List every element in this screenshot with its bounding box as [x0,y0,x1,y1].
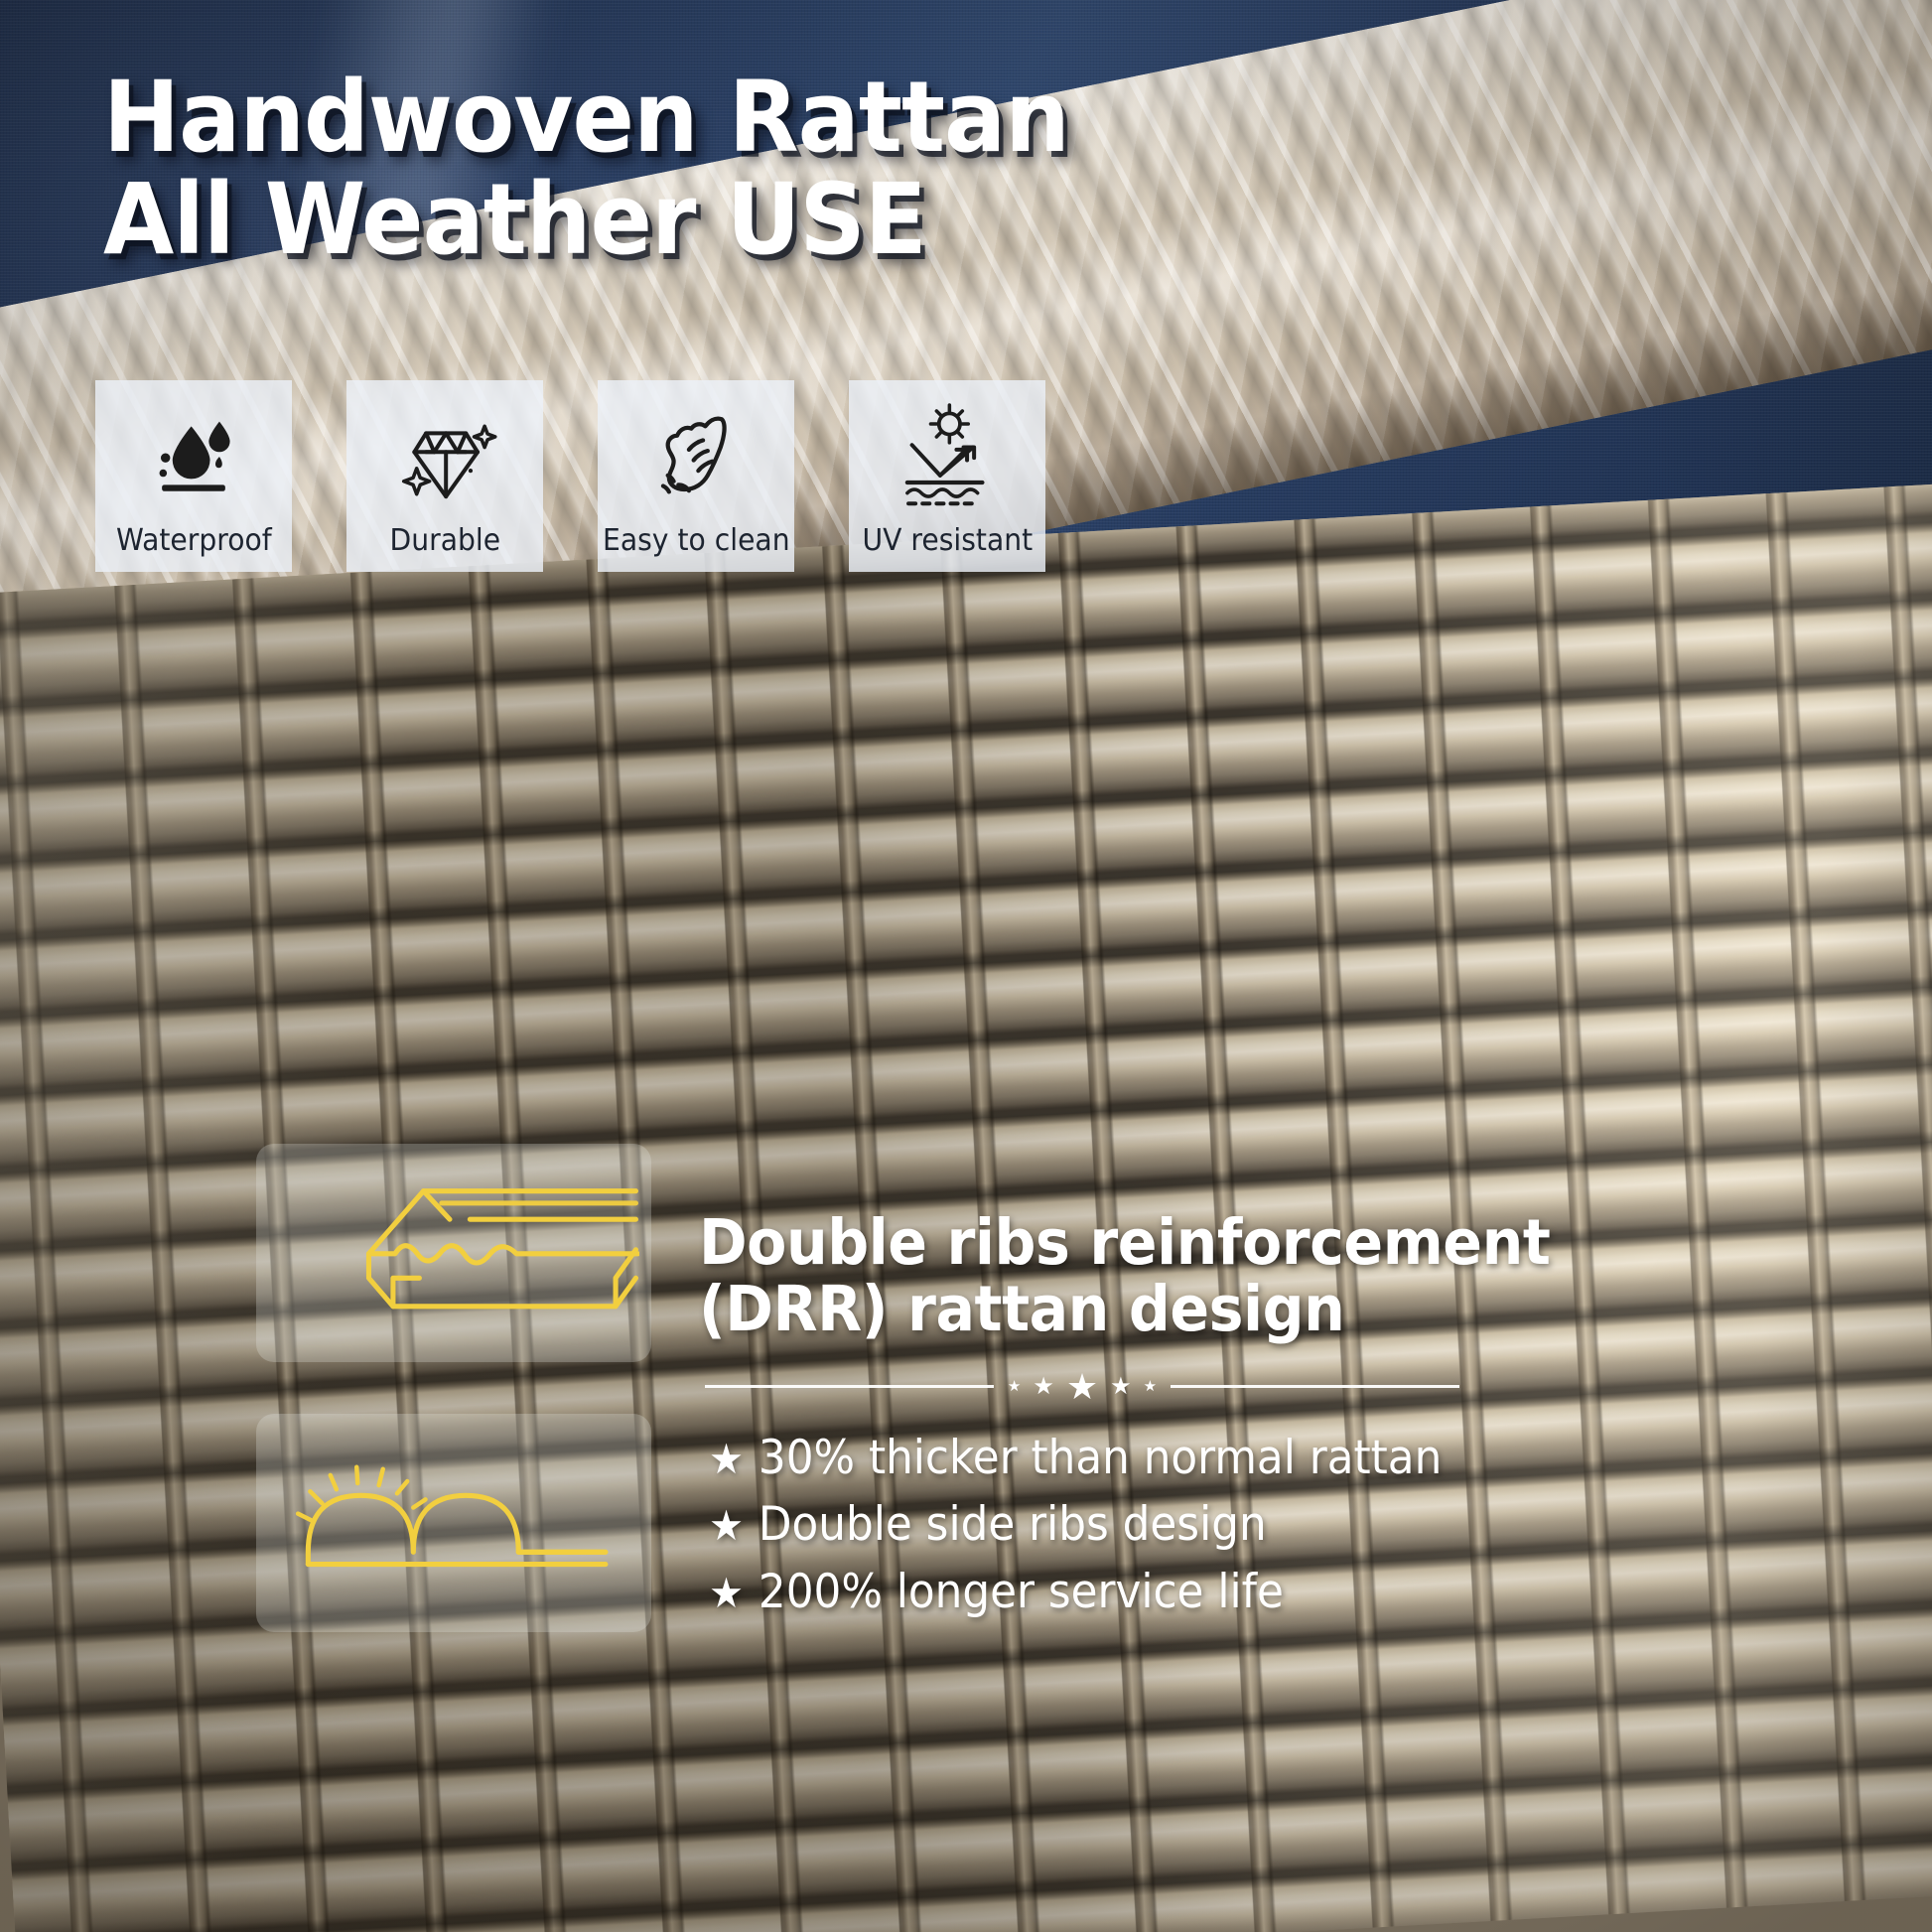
divider-stars: ★ ★ ★ ★ ★ [994,1369,1171,1405]
drr-text-column: Double ribs reinforcement (DRR) rattan d… [699,1144,1845,1626]
rib-cross-section-illustration [256,1414,651,1632]
feature-badge-waterproof: Waterproof [95,380,292,572]
waterproof-droplets-icon [135,398,252,515]
marketing-overlay: Handwoven Rattan All Weather USE Waterpr… [0,0,1932,1932]
drr-feature-block: Double ribs reinforcement (DRR) rattan d… [256,1144,1845,1632]
bullet-star-icon: ★ [709,1501,744,1550]
star-divider: ★ ★ ★ ★ ★ [705,1369,1459,1405]
sun-uv-reflect-icon [889,398,1006,515]
feature-badge-uv-resistant: UV resistant [849,380,1045,572]
feature-badge-durable: Durable [346,380,543,572]
feature-badge-label: UV resistant [862,523,1033,572]
hand-wiping-cloth-icon [637,398,755,515]
product-feature-image: Handwoven Rattan All Weather USE Waterpr… [0,0,1932,1932]
feature-badge-label: Waterproof [116,523,272,572]
bullet-star-icon: ★ [709,1435,744,1483]
diamond-sparkle-icon [386,398,503,515]
feature-badge-strip: Waterproof Durable [95,380,1045,572]
feature-badge-label: Easy to clean [603,523,790,572]
divider-star-icon: ★ [1008,1379,1021,1394]
drr-bullet-list: ★30% thicker than normal rattan ★Double … [709,1425,1845,1626]
page-title: Handwoven Rattan All Weather USE [103,68,1069,272]
feature-badge-label: Durable [389,523,500,572]
bullet-text: Double side ribs design [759,1497,1267,1552]
divider-star-icon: ★ [1033,1375,1054,1399]
feature-badge-easy-to-clean: Easy to clean [598,380,794,572]
divider-star-icon: ★ [1144,1379,1157,1394]
rattan-strand-profile-illustration [256,1144,651,1362]
drr-illustration-column [256,1144,651,1632]
divider-rule-left [705,1385,994,1388]
bullet-text: 200% longer service life [759,1565,1284,1619]
bullet-text: 30% thicker than normal rattan [759,1431,1442,1485]
list-item: ★200% longer service life [709,1559,1765,1626]
list-item: ★30% thicker than normal rattan [709,1425,1765,1492]
list-item: ★Double side ribs design [709,1491,1765,1559]
drr-heading: Double ribs reinforcement (DRR) rattan d… [699,1209,1764,1343]
divider-star-icon: ★ [1066,1369,1098,1405]
divider-star-icon: ★ [1110,1375,1132,1399]
divider-rule-right [1171,1385,1459,1388]
bullet-star-icon: ★ [709,1569,744,1617]
